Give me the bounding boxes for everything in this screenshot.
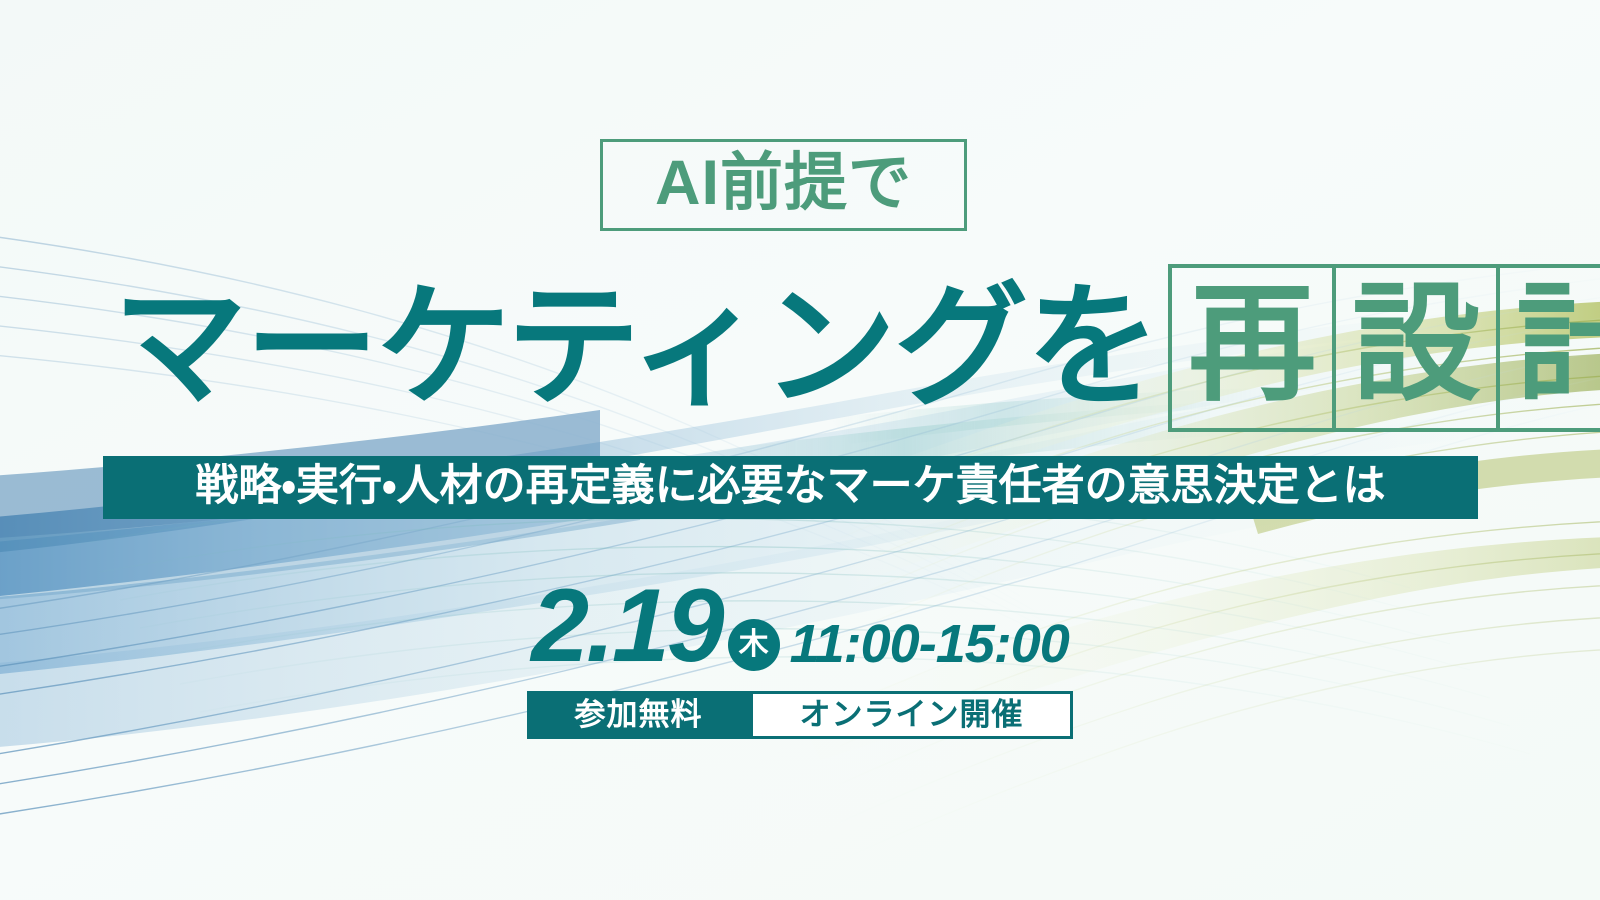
headline-boxed-char-3: 計 xyxy=(1496,264,1600,432)
event-time-range: 11:00-15:00 xyxy=(790,617,1069,671)
headline-plain-text: マーケティングを xyxy=(113,281,1158,415)
event-date: 2.19 xyxy=(531,579,721,675)
subtitle-bar: 戦略・実行・人材の再定義に必要なマーケ責任者の意思決定とは xyxy=(103,456,1478,519)
eyebrow-label: AI前提で xyxy=(655,152,912,215)
eyebrow-badge: AI前提で xyxy=(600,139,967,231)
status-badge-free-label: 参加無料 xyxy=(575,699,703,730)
headline-boxed-char-3-label: 計 xyxy=(1516,281,1600,409)
status-badge-online: オンライン開催 xyxy=(750,691,1073,739)
status-badge-online-label: オンライン開催 xyxy=(800,699,1024,730)
webinar-banner: AI前提で マーケティングを 再 設 計 戦略・実行・人材の再定義に必要なマーケ… xyxy=(0,0,1600,900)
headline-boxed-char-2-label: 設 xyxy=(1352,281,1480,409)
subtitle-text: 戦略・実行・人材の再定義に必要なマーケ責任者の意思決定とは xyxy=(195,465,1385,508)
day-of-week-label: 木 xyxy=(739,630,769,660)
badge-row: 参加無料 オンライン開催 xyxy=(0,691,1600,739)
event-date-row: 2.19 木 11:00-15:00 xyxy=(0,575,1600,675)
page-title: マーケティングを 再 設 計 xyxy=(0,262,1600,434)
headline-boxed-group: 再 設 計 xyxy=(1168,264,1600,432)
headline-boxed-char-1: 再 xyxy=(1168,264,1336,432)
status-badge-free: 参加無料 xyxy=(527,691,750,739)
banner-content: AI前提で マーケティングを 再 設 計 戦略・実行・人材の再定義に必要なマーケ… xyxy=(0,0,1600,900)
day-of-week-badge: 木 xyxy=(728,619,780,671)
headline-boxed-char-2: 設 xyxy=(1332,264,1500,432)
headline-boxed-char-1-label: 再 xyxy=(1188,281,1316,409)
